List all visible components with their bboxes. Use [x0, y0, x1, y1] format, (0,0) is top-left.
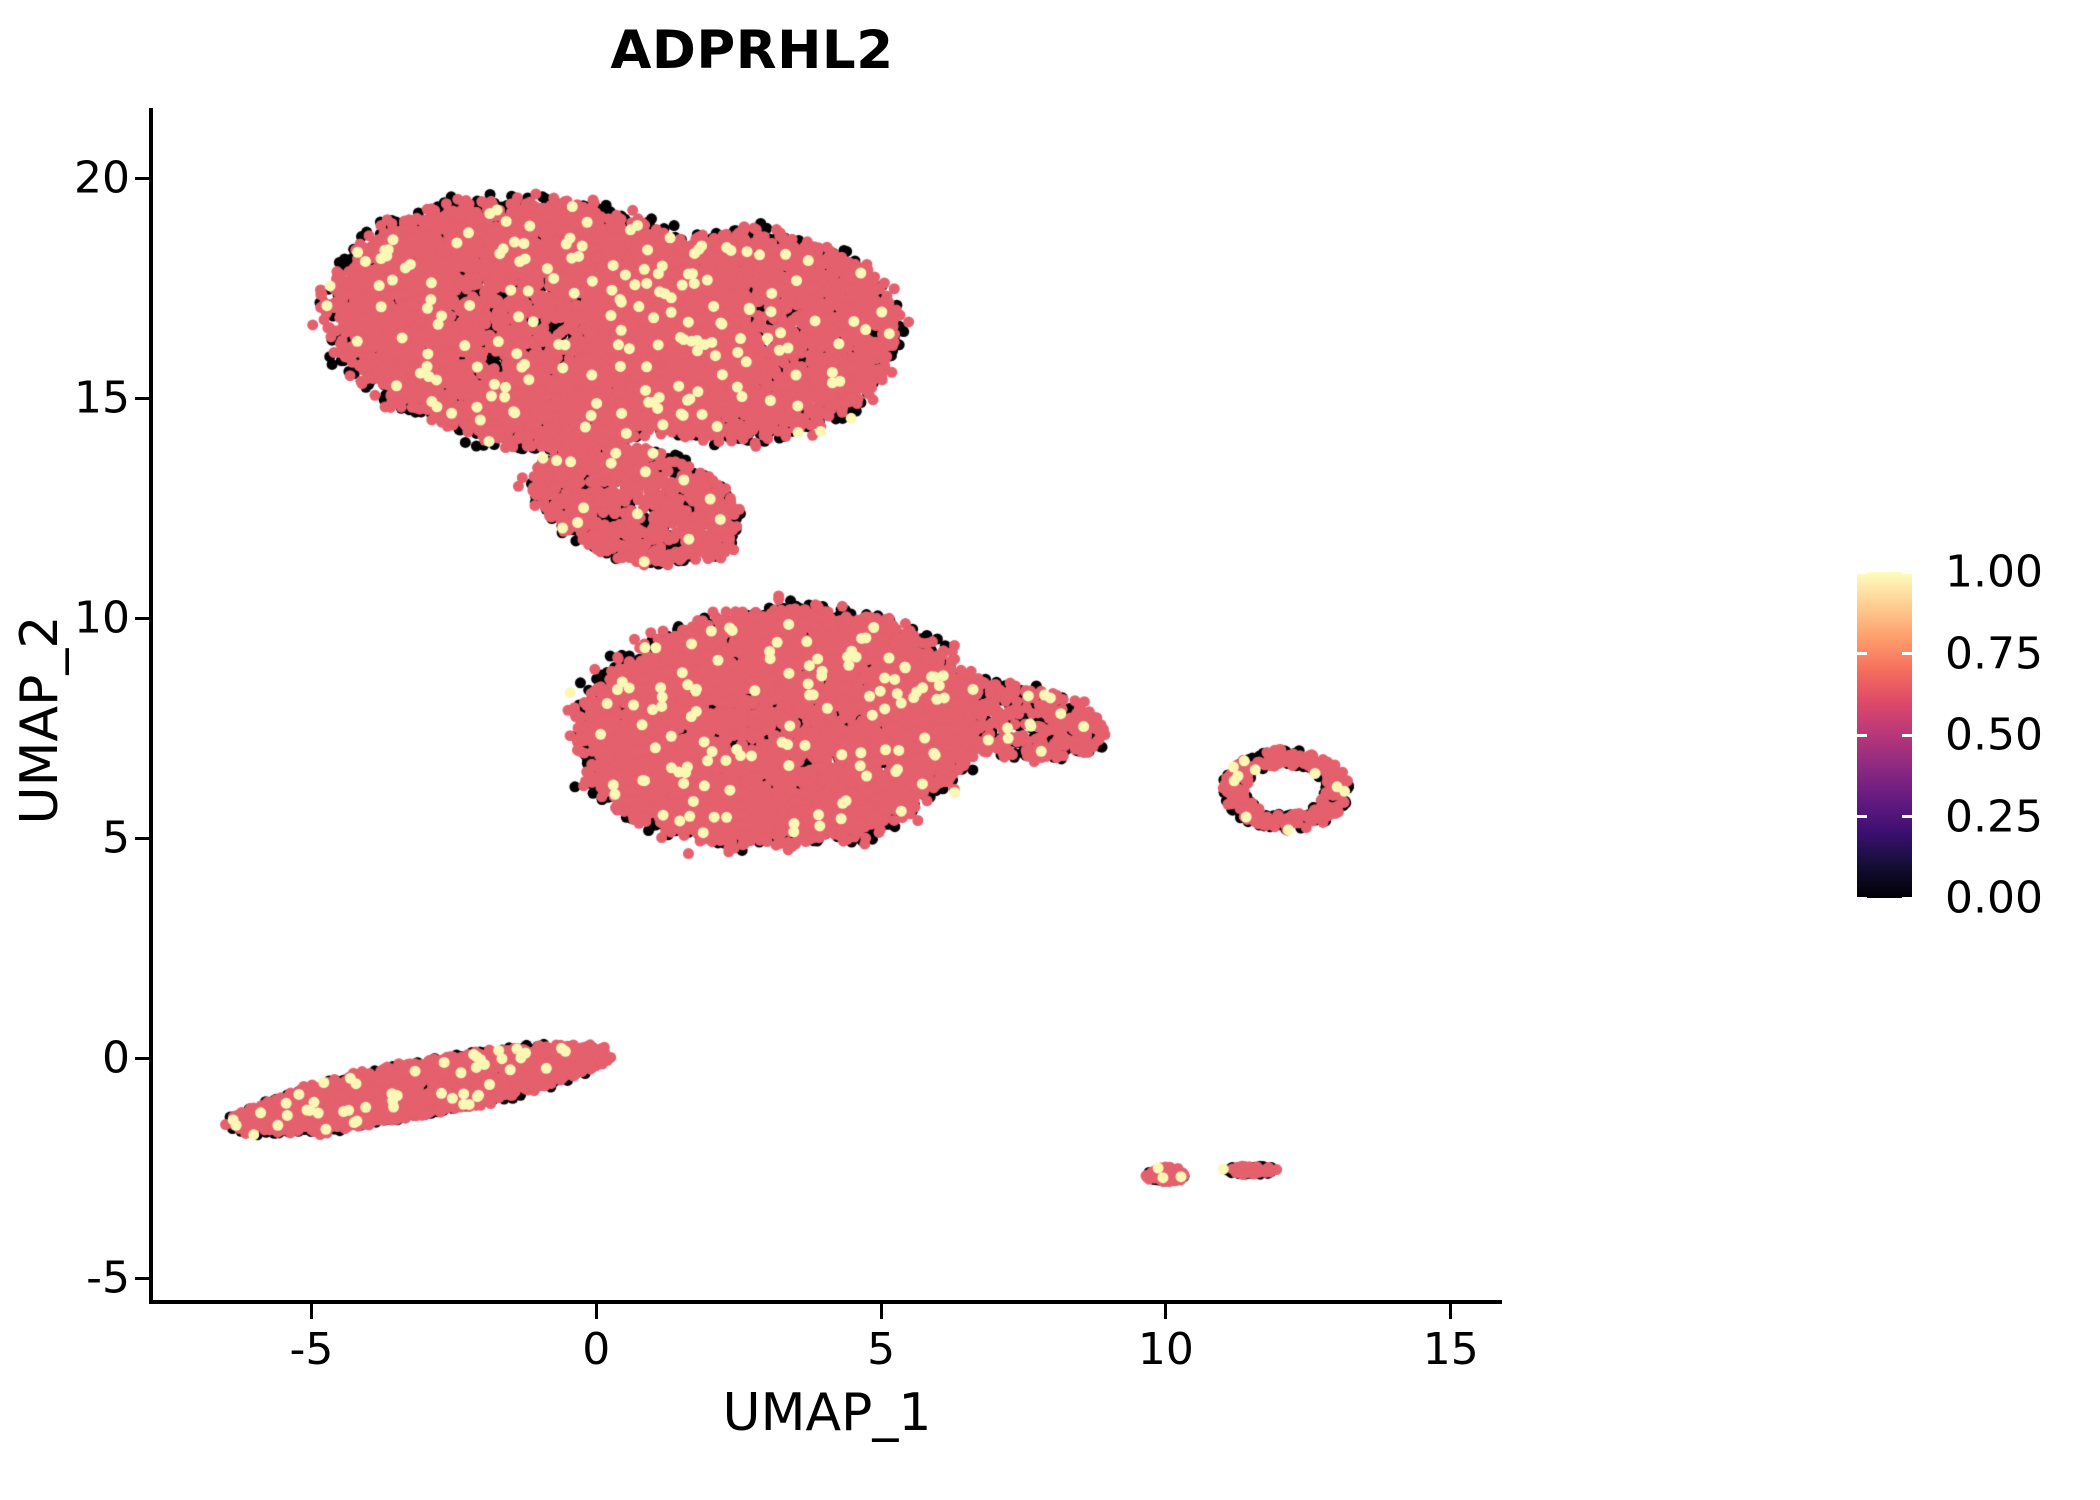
colorbar-tick-label: 0.25 — [1945, 791, 2043, 842]
x-tick-mark — [310, 1304, 313, 1319]
x-tick-label: 0 — [582, 1324, 610, 1375]
x-tick-label: -5 — [290, 1324, 334, 1375]
colorbar-tick-mark — [1902, 652, 1912, 655]
colorbar-tick-mark — [1902, 815, 1912, 818]
axis-spine-bottom — [149, 1300, 1502, 1304]
y-tick-mark — [135, 1057, 150, 1060]
y-tick-label: -5 — [86, 1253, 130, 1304]
colorbar-tick-mark — [1857, 897, 1867, 900]
x-axis-label: UMAP_1 — [152, 1383, 1502, 1443]
y-tick-mark — [135, 397, 150, 400]
y-tick-label: 5 — [102, 813, 130, 864]
x-tick-mark — [1164, 1304, 1167, 1319]
y-axis-label: UMAP_2 — [10, 120, 70, 1320]
y-tick-mark — [135, 617, 150, 620]
colorbar-tick-label: 0.50 — [1945, 710, 2043, 761]
figure-canvas: ADPRHL2 -505101520 -5051015 UMAP_1 UMAP_… — [0, 0, 2100, 1500]
colorbar-tick-label: 0.75 — [1945, 628, 2043, 679]
y-tick-label: 15 — [74, 373, 130, 424]
x-tick-mark — [1449, 1304, 1452, 1319]
colorbar-tick-mark — [1902, 734, 1912, 737]
plot-axes: -505101520 -5051015 — [152, 108, 1502, 1300]
y-tick-mark — [135, 837, 150, 840]
y-tick-label: 10 — [74, 593, 130, 644]
y-tick-mark — [135, 1277, 150, 1280]
x-tick-mark — [880, 1304, 883, 1319]
colorbar-tick-mark — [1902, 571, 1912, 574]
x-tick-label: 5 — [867, 1324, 895, 1375]
y-tick-mark — [135, 177, 150, 180]
colorbar-tick-mark — [1857, 652, 1867, 655]
colorbar-tick-mark — [1857, 734, 1867, 737]
colorbar-tick-label: 0.00 — [1945, 873, 2043, 924]
y-tick-label: 0 — [102, 1033, 130, 1084]
page-title: ADPRHL2 — [152, 24, 1352, 77]
colorbar-tick-mark — [1857, 571, 1867, 574]
colorbar-tick-mark — [1902, 897, 1912, 900]
x-tick-mark — [595, 1304, 598, 1319]
colorbar: 1.000.750.500.250.00 — [1857, 572, 2087, 898]
scatter-plot-area — [152, 108, 1502, 1300]
colorbar-tick-mark — [1857, 815, 1867, 818]
x-tick-label: 10 — [1138, 1324, 1194, 1375]
colorbar-tick-label: 1.00 — [1945, 547, 2043, 598]
x-tick-label: 15 — [1423, 1324, 1479, 1375]
y-tick-label: 20 — [74, 153, 130, 204]
